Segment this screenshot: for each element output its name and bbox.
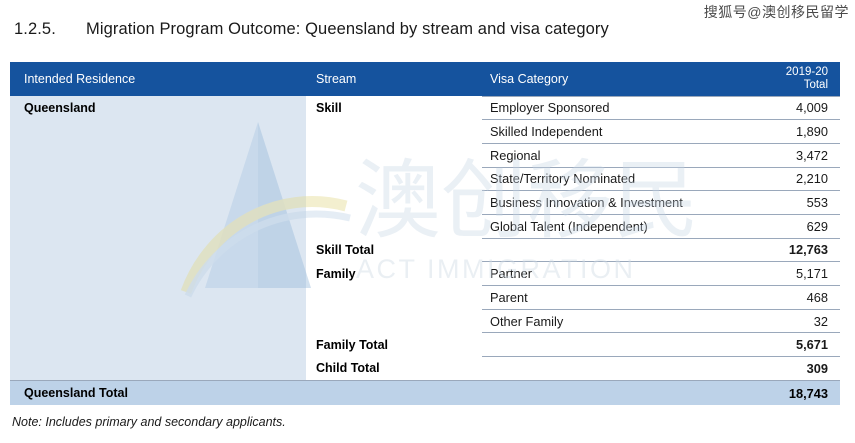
cell-total: 5,171 [728, 262, 840, 286]
cell-total: 629 [728, 214, 840, 238]
cell-stream-empty [306, 167, 482, 191]
table-note: Note: Includes primary and secondary app… [12, 415, 286, 429]
page-title: Migration Program Outcome: Queensland by… [86, 20, 609, 39]
cell-stream-empty [306, 191, 482, 215]
cell-visa-category-empty [482, 357, 728, 381]
cell-stream: Child Total [306, 357, 482, 381]
table-header: Intended Residence Stream Visa Category … [10, 62, 840, 96]
cell-total: 1,890 [728, 120, 840, 144]
table-row: QueenslandSkillEmployer Sponsored4,009 [10, 96, 840, 120]
grand-total-row: Queensland Total18,743 [10, 380, 840, 405]
cell-visa-category: Parent [482, 286, 728, 310]
cell-visa-category-empty [482, 333, 728, 357]
migration-outcome-table: Intended Residence Stream Visa Category … [10, 62, 840, 405]
cell-total: 12,763 [728, 238, 840, 262]
cell-stream: Skill Total [306, 238, 482, 262]
cell-visa-category: Employer Sponsored [482, 96, 728, 120]
cell-total: 309 [728, 357, 840, 381]
cell-visa-category: Business Innovation & Investment [482, 191, 728, 215]
cell-stream-empty [306, 286, 482, 310]
cell-visa-category: Other Family [482, 309, 728, 333]
page-heading: 1.2.5. Migration Program Outcome: Queens… [0, 8, 855, 50]
cell-stream-empty [306, 214, 482, 238]
cell-total: 5,671 [728, 333, 840, 357]
cell-stream-empty [306, 143, 482, 167]
cell-total: 4,009 [728, 96, 840, 120]
column-header-stream: Stream [306, 62, 482, 96]
cell-visa-category: Regional [482, 143, 728, 167]
cell-stream-empty [306, 120, 482, 144]
migration-outcome-table-wrapper: Intended Residence Stream Visa Category … [10, 62, 840, 403]
column-header-total: 2019-20 Total [728, 62, 840, 96]
cell-intended-residence: Queensland [10, 96, 306, 380]
grand-total-label: Queensland Total [10, 380, 728, 405]
cell-visa-category: Skilled Independent [482, 120, 728, 144]
cell-total: 468 [728, 286, 840, 310]
column-header-total-word: Total [728, 79, 828, 92]
cell-total: 3,472 [728, 143, 840, 167]
column-header-intended-residence: Intended Residence [10, 62, 306, 96]
grand-total-value: 18,743 [728, 380, 840, 405]
cell-visa-category: Global Talent (Independent) [482, 214, 728, 238]
cell-visa-category: State/Territory Nominated [482, 167, 728, 191]
cell-stream: Family [306, 262, 482, 286]
heading-number: 1.2.5. [0, 20, 86, 39]
cell-stream: Skill [306, 96, 482, 120]
table-header-row: Intended Residence Stream Visa Category … [10, 62, 840, 96]
column-header-visa-category: Visa Category [482, 62, 728, 96]
cell-total: 2,210 [728, 167, 840, 191]
table-body: QueenslandSkillEmployer Sponsored4,009Sk… [10, 96, 840, 405]
cell-total: 32 [728, 309, 840, 333]
cell-stream-empty [306, 309, 482, 333]
cell-total: 553 [728, 191, 840, 215]
cell-visa-category-empty [482, 238, 728, 262]
column-header-total-year: 2019-20 [728, 66, 828, 79]
cell-stream: Family Total [306, 333, 482, 357]
cell-visa-category: Partner [482, 262, 728, 286]
